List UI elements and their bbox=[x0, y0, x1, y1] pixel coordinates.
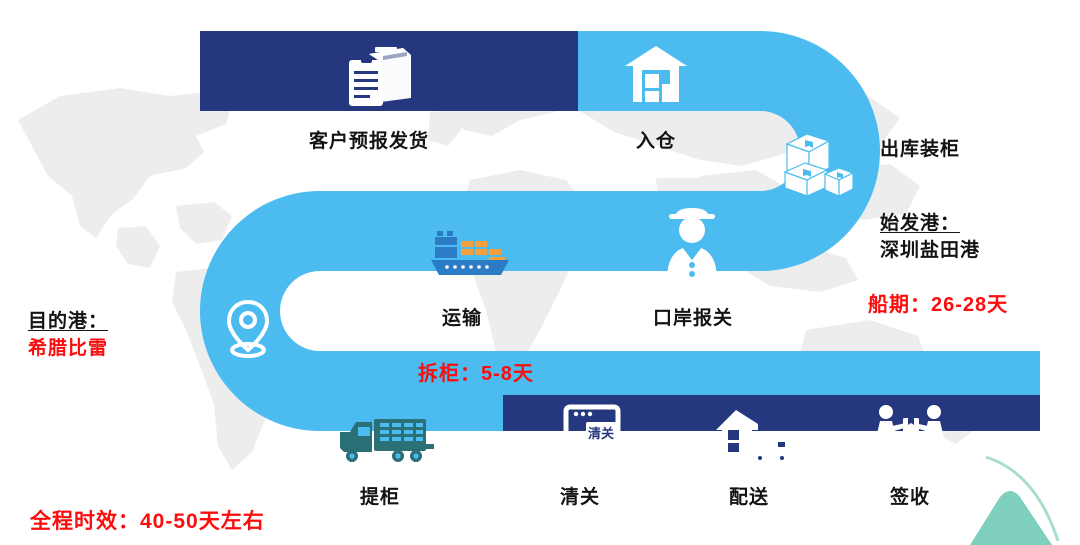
officer-icon bbox=[661, 208, 723, 280]
total-time-annotation: 全程时效：40-50天左右 bbox=[30, 505, 265, 535]
cargo-ship-icon bbox=[425, 227, 515, 279]
warehouse-truck-icon bbox=[714, 408, 790, 466]
step-label-3: 出库装柜 bbox=[880, 136, 960, 163]
devanning-time-annotation: 拆柜：5-8天 bbox=[418, 357, 534, 386]
clipboard-box-icon bbox=[345, 42, 415, 112]
step-label-9: 签收 bbox=[890, 482, 930, 509]
shipping-time-annotation: 船期：26-28天 bbox=[868, 288, 1008, 317]
step-label-6: 提柜 bbox=[360, 482, 400, 509]
location-pin-icon bbox=[222, 296, 274, 362]
step-label-4: 口岸报关 bbox=[653, 303, 733, 330]
warehouse-icon bbox=[623, 44, 689, 104]
destination-port-annotation: 目的港： 希腊比雷 bbox=[28, 308, 108, 362]
origin-port-annotation: 始发港： 深圳盐田港 bbox=[880, 210, 980, 264]
step-label-8: 配送 bbox=[729, 482, 769, 509]
destination-port-title: 目的港： bbox=[28, 311, 108, 332]
step-label-1: 客户预报发货 bbox=[309, 126, 429, 153]
destination-port-value: 希腊比雷 bbox=[28, 338, 108, 359]
step-label-7: 清关 bbox=[560, 482, 600, 509]
customs-screen-icon: 清关 bbox=[550, 404, 622, 466]
step-label-2: 入仓 bbox=[636, 126, 676, 153]
handover-icon bbox=[872, 404, 948, 466]
origin-port-value: 深圳盐田港 bbox=[880, 240, 980, 261]
boxes-icon bbox=[783, 130, 855, 198]
step-label-5: 运输 bbox=[442, 303, 482, 330]
infographic-canvas: 清关 bbox=[0, 0, 1080, 545]
customs-screen-icon-text: 清关 bbox=[588, 426, 614, 441]
origin-port-title: 始发港： bbox=[880, 213, 960, 234]
delivery-truck-icon bbox=[336, 414, 436, 464]
